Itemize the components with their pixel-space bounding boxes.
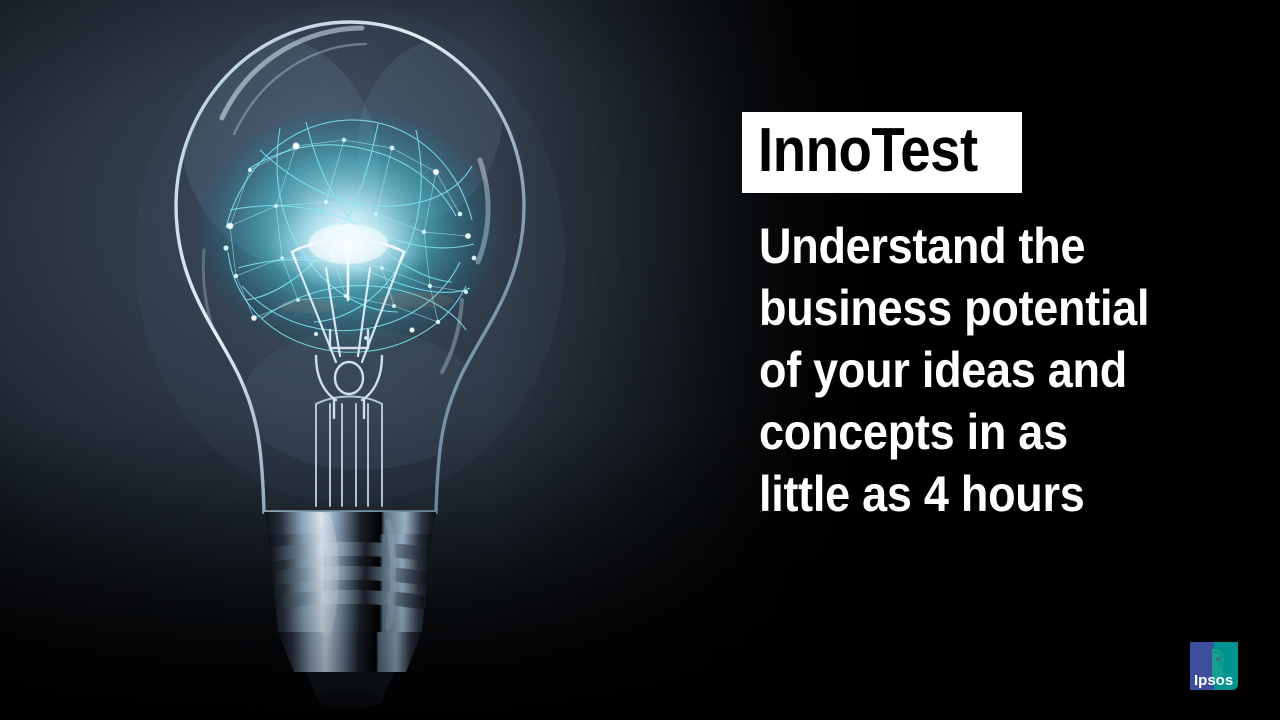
- subtitle-line: concepts in as: [759, 401, 1212, 463]
- slide-subtitle: Understand the business potential of you…: [759, 215, 1212, 525]
- subtitle-line: of your ideas and: [759, 339, 1212, 401]
- slide-canvas: InnoTest Understand the business potenti…: [0, 0, 1280, 720]
- title-highlight-box: InnoTest: [742, 112, 1022, 193]
- subtitle-line: little as 4 hours: [759, 463, 1212, 525]
- slide-copy: InnoTest Understand the business potenti…: [742, 112, 1262, 525]
- subtitle-line: business potential: [759, 277, 1212, 339]
- ipsos-logo: Ipsos: [1188, 640, 1240, 692]
- subtitle-line: Understand the: [759, 215, 1212, 277]
- page-title: InnoTest: [758, 118, 978, 183]
- logo-wordmark: Ipsos: [1194, 672, 1233, 689]
